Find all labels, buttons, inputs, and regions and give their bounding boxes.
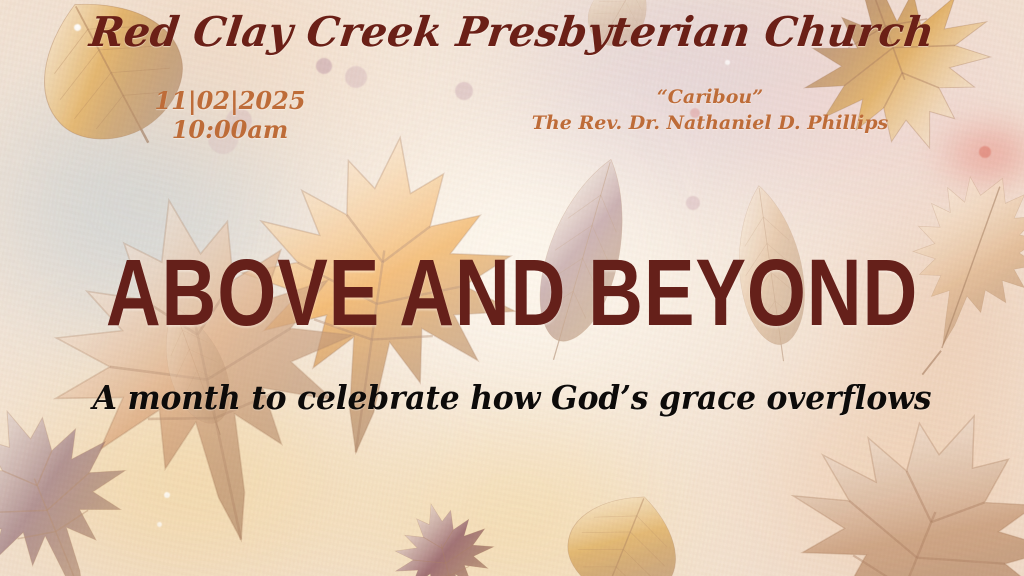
- service-time: 10:00am: [120, 115, 340, 144]
- preacher-name: The Rev. Dr. Nathaniel D. Phillips: [500, 112, 920, 135]
- church-name: Red Clay Creek Presbyterian Church: [0, 8, 1024, 56]
- sermon-block: “Caribou” The Rev. Dr. Nathaniel D. Phil…: [500, 86, 920, 135]
- series-tagline: A month to celebrate how God’s grace ove…: [26, 378, 999, 417]
- sermon-title: “Caribou”: [500, 86, 920, 109]
- service-date: 11|02|2025: [120, 86, 340, 115]
- series-headline: ABOVE AND BEYOND: [102, 248, 921, 339]
- service-datetime-block: 11|02|2025 10:00am: [120, 86, 340, 145]
- worship-slide: Red Clay Creek Presbyterian Church 11|02…: [0, 0, 1024, 576]
